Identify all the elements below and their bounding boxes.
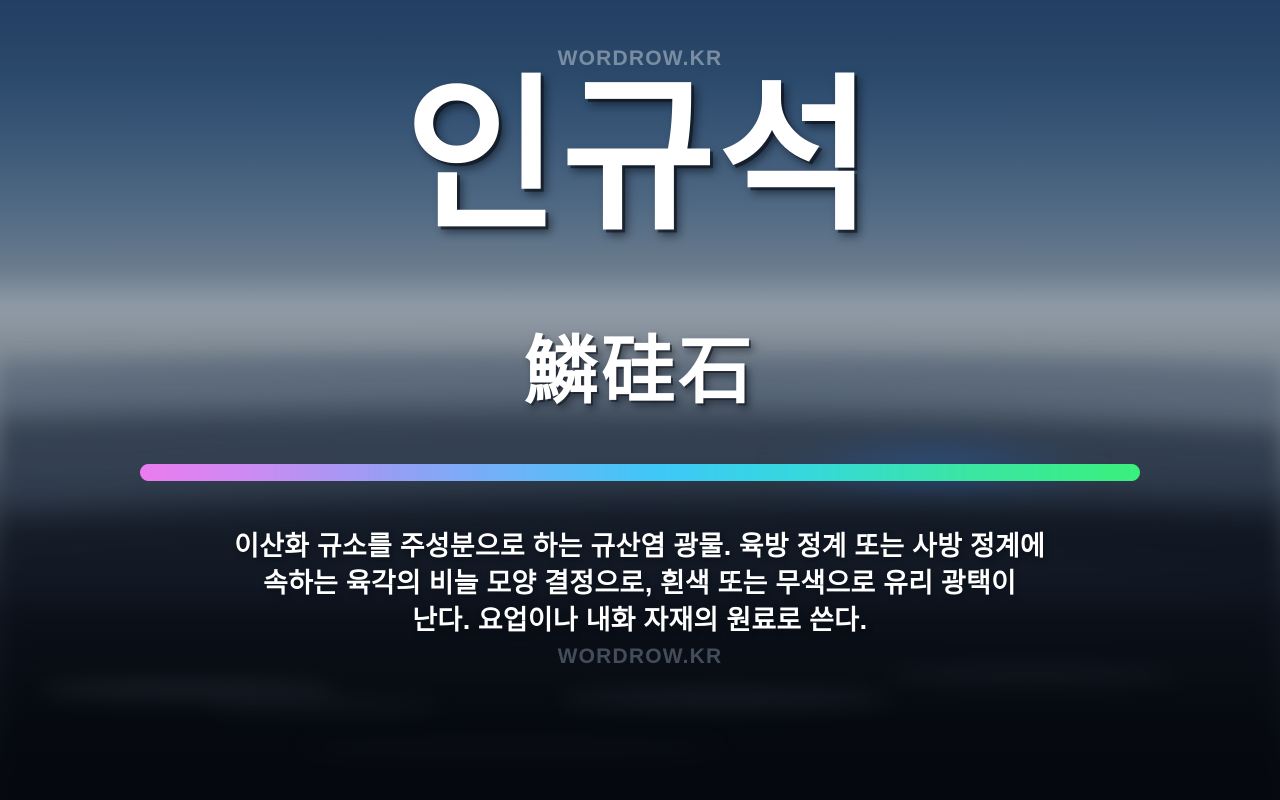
definition-text: 이산화 규소를 주성분으로 하는 규산염 광물. 육방 정계 또는 사방 정계에… [0, 528, 1280, 639]
definition-line: 이산화 규소를 주성분으로 하는 규산염 광물. 육방 정계 또는 사방 정계에 [108, 528, 1172, 565]
word-card: WORDROW.KR 인규석 鱗硅石 이산화 규소를 주성분으로 하는 규산염 … [0, 0, 1280, 800]
watermark-bottom: WORDROW.KR [0, 645, 1280, 669]
definition-line: 속하는 육각의 비늘 모양 결정으로, 흰색 또는 무색으로 유리 광택이 [108, 565, 1172, 602]
definition-line: 난다. 요업이나 내화 자재의 원료로 쓴다. [108, 602, 1172, 639]
gradient-divider [140, 464, 1140, 481]
hanja-reading: 鱗硅石 [0, 330, 1280, 411]
headword-title: 인규석 [0, 62, 1280, 250]
